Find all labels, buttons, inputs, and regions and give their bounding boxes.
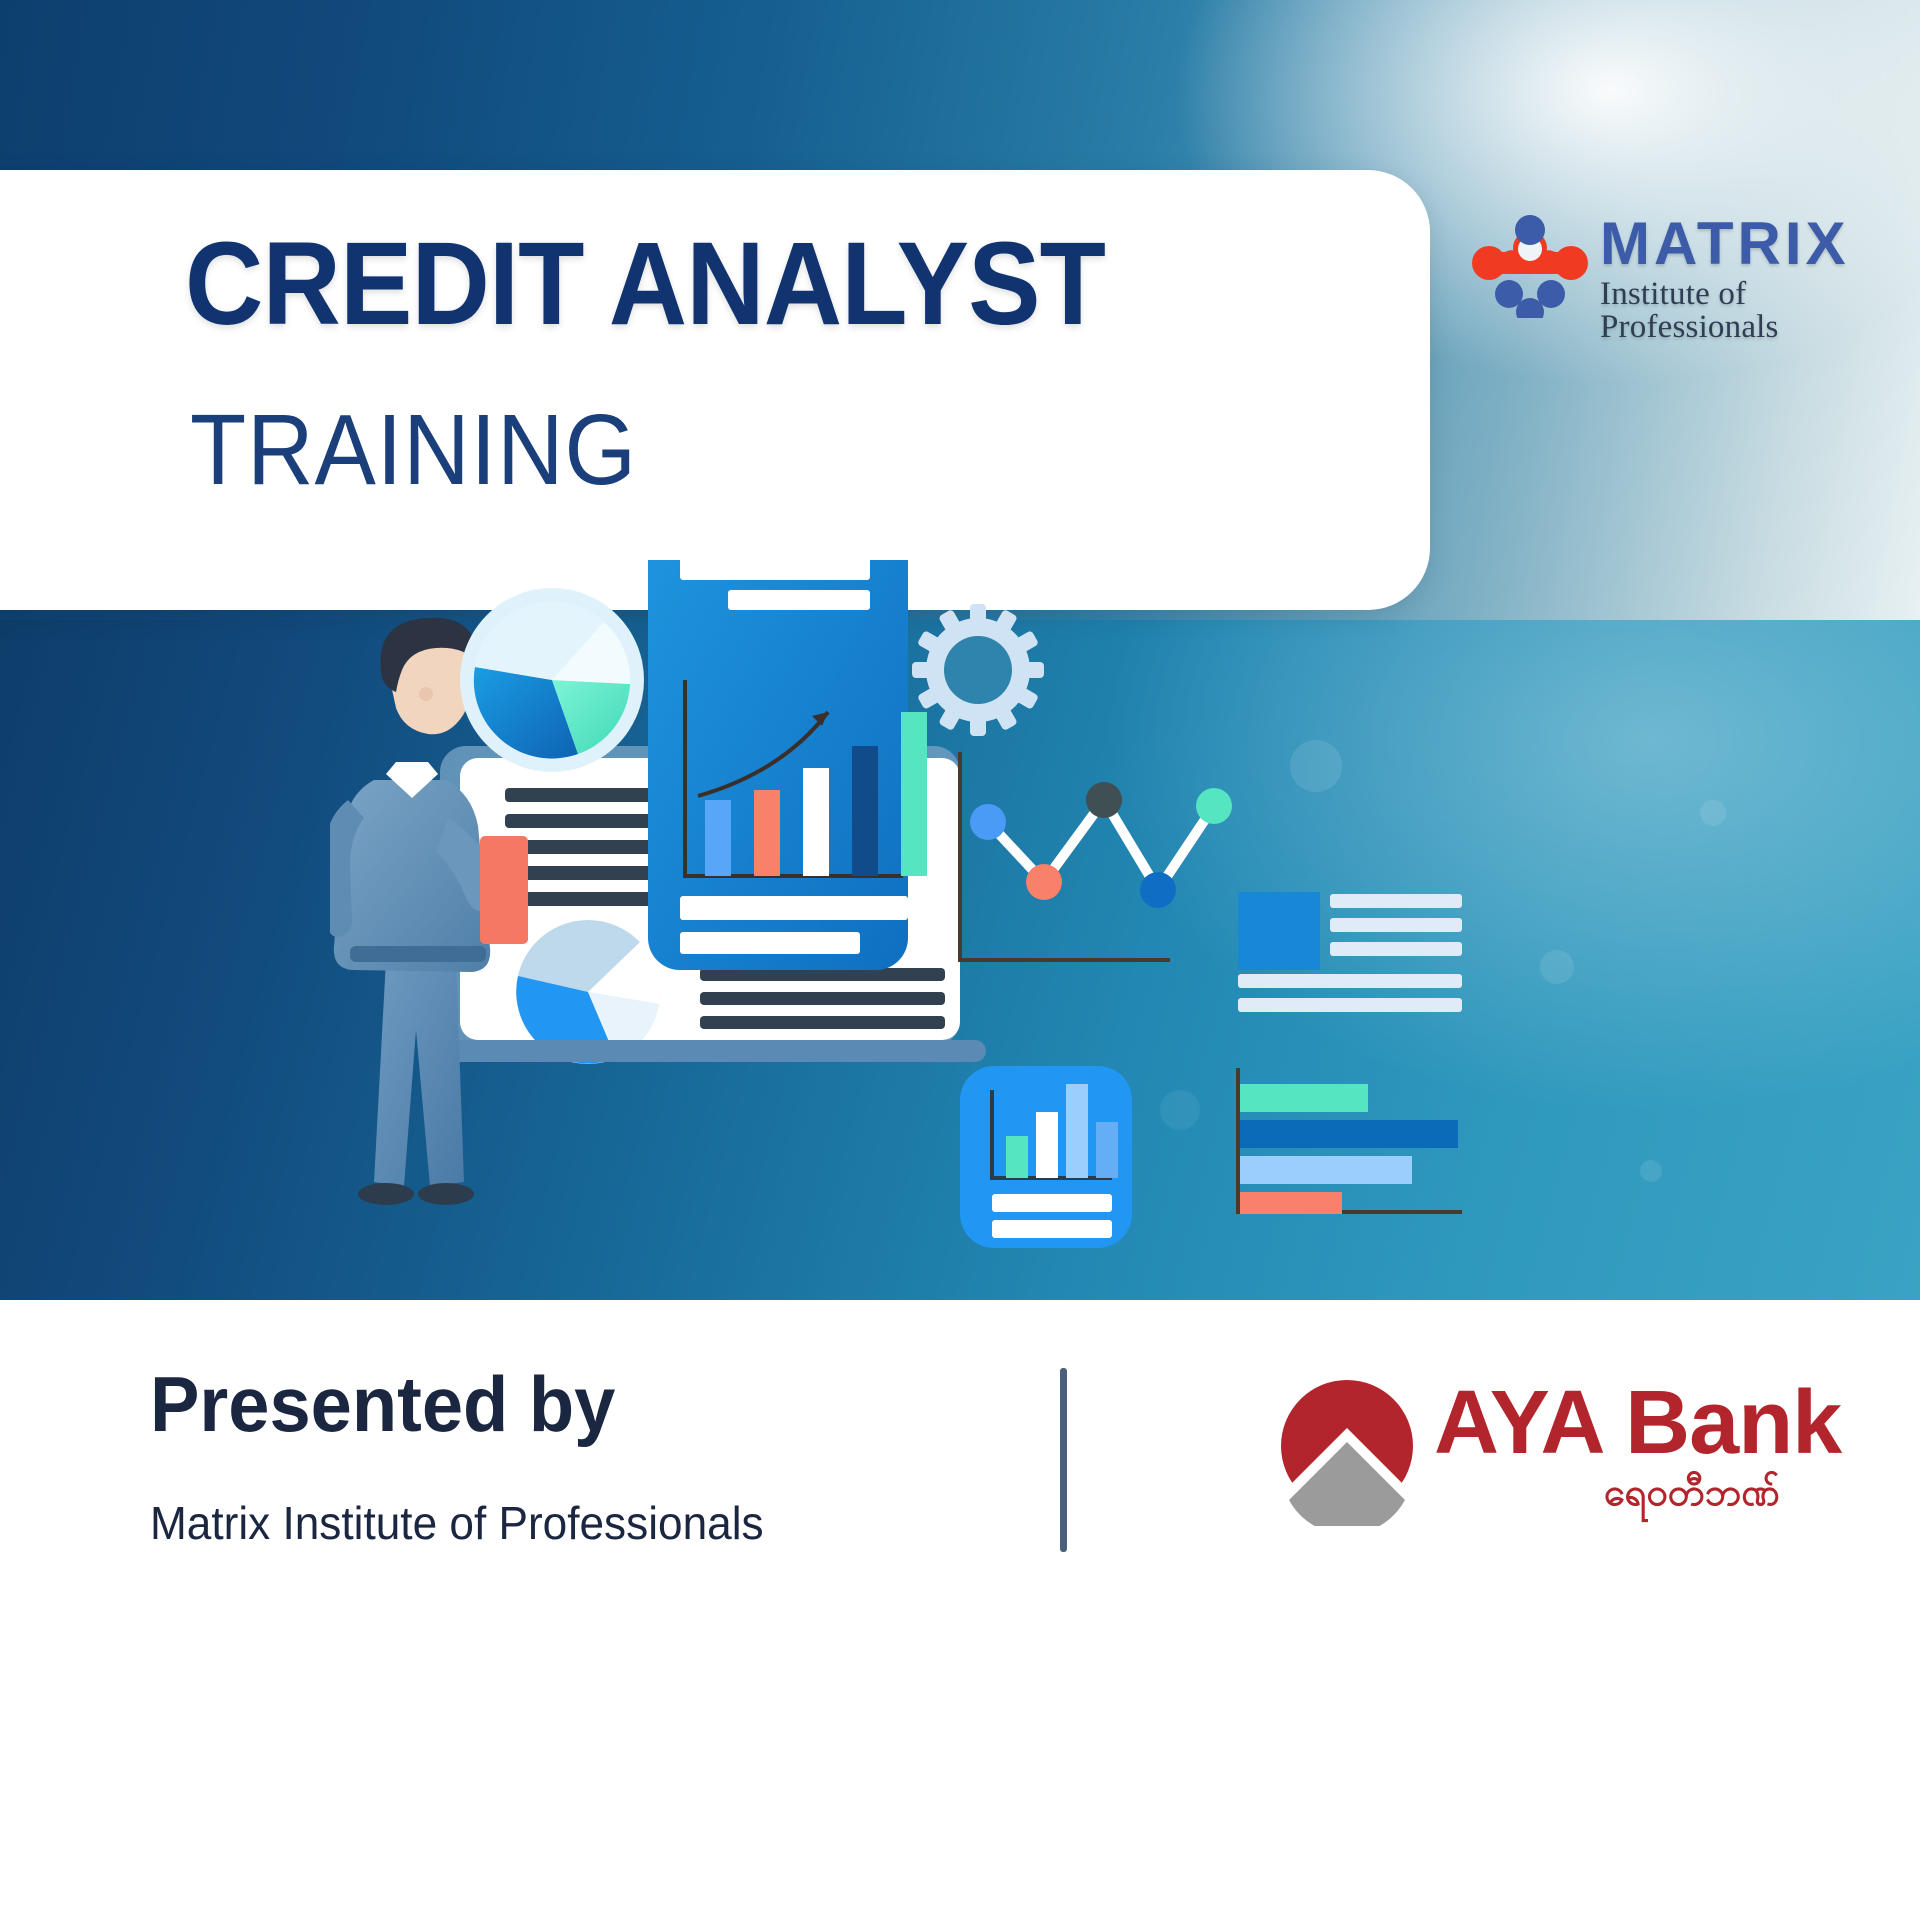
point-4 [1140,872,1176,908]
footer-divider [1060,1368,1067,1552]
presented-by-label: Presented by [150,1365,615,1443]
list-card-thumb [1238,892,1320,970]
tile-footer-bar-2 [992,1220,1112,1238]
poster-canvas: CREDIT ANALYST TRAINING [0,0,1920,1920]
bar-4 [852,746,878,876]
aya-bank-local-name: ရေဝတီဘဏ် [1604,1474,1780,1512]
tile-bar-4 [1096,1122,1118,1178]
bokeh-dot [1640,1160,1662,1182]
aya-mountain-sun-icon [1272,1376,1422,1526]
panel-subtitle-bar [728,590,870,610]
panel-title-bar [680,560,870,580]
tile-bar-chart [960,1066,1132,1248]
aya-bank-wordmark: AYA Bank [1434,1378,1841,1468]
point-1 [970,804,1006,840]
presenter-name: Matrix Institute of Professionals [150,1500,764,1546]
matrix-logo[interactable]: MATRIX Institute of Professionals [1472,212,1892,324]
page-subtitle: TRAINING [190,400,637,500]
phone-bar-chart-panel [648,560,927,970]
tile-footer-bar-1 [992,1194,1112,1212]
hbar-4 [1240,1192,1342,1214]
gear-icon [912,604,1044,736]
hbar-3 [1240,1156,1412,1184]
aya-bank-logo[interactable]: AYA Bank ရေဝတီဘဏ် [1272,1382,1832,1532]
bar-1 [705,800,731,876]
point-5 [1196,788,1232,824]
report-text-lines-lower [700,968,945,1029]
matrix-logo-tagline: Institute of Professionals [1600,278,1892,344]
list-card [1238,892,1462,1012]
donut-pie-chart-large [460,588,644,772]
bokeh-dot [1540,950,1574,984]
matrix-logo-wordmark: MATRIX [1600,214,1850,274]
point-3 [1086,782,1122,818]
tile-bar-1 [1006,1136,1028,1178]
bar-5 [901,712,927,876]
bar-2 [754,790,780,876]
tile-bar-3 [1066,1084,1088,1178]
bokeh-dot [1700,800,1726,826]
zigzag-line-chart [960,752,1232,960]
tile-bar-2 [1036,1112,1058,1178]
hbar-1 [1240,1084,1368,1112]
horizontal-bar-chart [1238,1068,1462,1214]
page-title: CREDIT ANALYST [185,225,1105,343]
hbar-2 [1240,1120,1458,1148]
matrix-molecule-icon [1472,214,1588,318]
point-2 [1026,864,1062,900]
data-analytics-illustration [330,560,1530,1320]
panel-footer-bar-2 [680,932,860,954]
panel-footer-bar-1 [680,896,908,920]
bar-3 [803,768,829,876]
